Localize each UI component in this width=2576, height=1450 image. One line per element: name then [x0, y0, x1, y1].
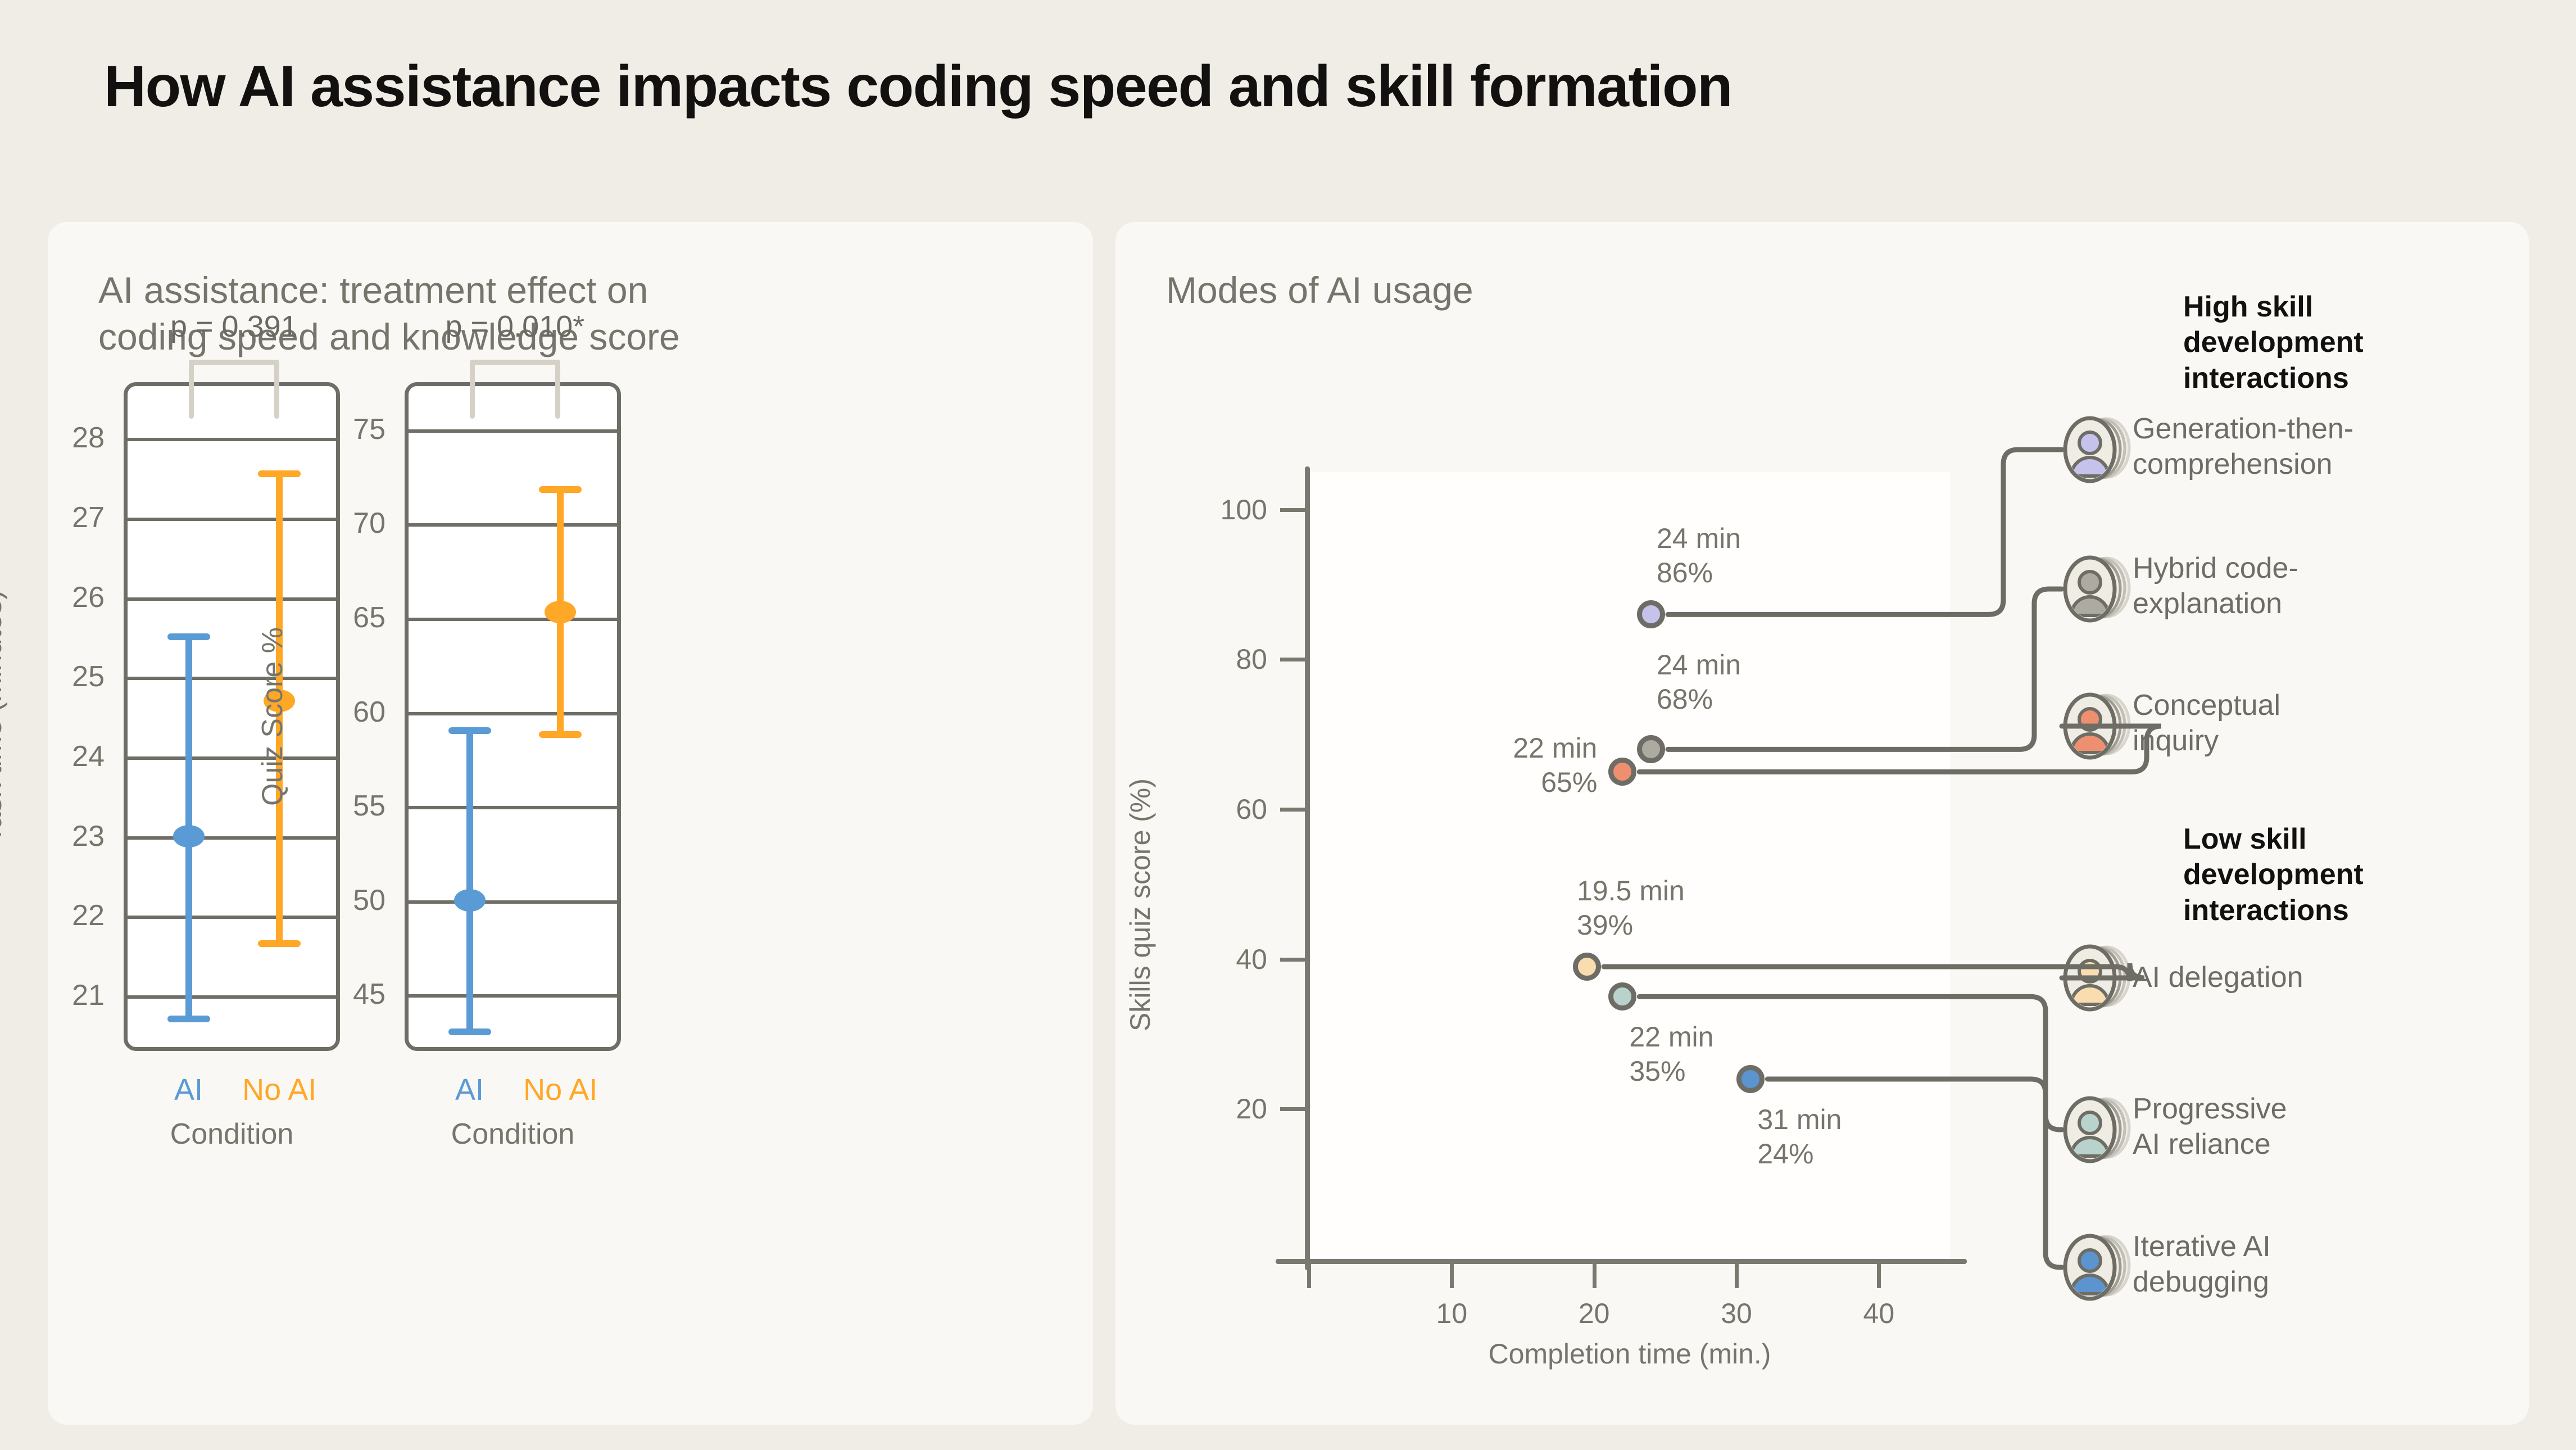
- x-axis-category-ai: AI: [455, 1072, 484, 1107]
- scatter-point-annotation: 24 min 86%: [1657, 522, 1741, 590]
- page-title: How AI assistance impacts coding speed a…: [104, 53, 1732, 120]
- x-axis-category-no-ai: No AI: [242, 1072, 316, 1107]
- legend-item-label: Iterative AI debugging: [2133, 1229, 2271, 1301]
- legend-item-label: AI delegation: [2133, 960, 2303, 995]
- chart-plot-area: [405, 382, 621, 1051]
- scatter-plot-area: [1309, 472, 1950, 1259]
- y-axis-title: Quiz Score %: [256, 627, 289, 806]
- y-axis-tick-label: 25: [48, 660, 105, 694]
- y-axis-tick-label: 23: [48, 819, 105, 853]
- legend-item-hybrid-code-explanation[interactable]: Hybrid code- explanation: [2060, 552, 2487, 626]
- gridline: [409, 806, 617, 809]
- left-panel-card: AI assistance: treatment effect on codin…: [48, 222, 1093, 1425]
- y-axis-title: Skills quiz score (%): [1124, 778, 1157, 1031]
- gridline: [409, 712, 617, 715]
- mean-point: [545, 601, 576, 623]
- y-axis-line: [1305, 466, 1310, 1270]
- gridline: [409, 618, 617, 621]
- y-axis-tick-label: 100: [1163, 493, 1267, 526]
- y-axis-tick-label: 65: [48, 601, 386, 635]
- x-tick-mark: [1450, 1262, 1454, 1288]
- legend-item-label: Progressive AI reliance: [2133, 1091, 2287, 1163]
- gridline: [128, 836, 336, 840]
- y-tick-mark: [1280, 1107, 1306, 1111]
- mean-point: [173, 825, 205, 848]
- y-tick-mark: [1280, 808, 1306, 812]
- y-axis-tick-label: 60: [1163, 793, 1267, 826]
- user-avatar-icon: [2060, 1231, 2133, 1304]
- y-axis-tick-label: 75: [48, 413, 386, 446]
- x-tick-mark: [1593, 1262, 1597, 1288]
- p-value-label: p = 0.010*: [445, 309, 584, 344]
- y-axis-tick-label: 20: [1163, 1093, 1267, 1125]
- scatter-point-annotation: 24 min 68%: [1657, 648, 1741, 717]
- y-axis-tick-label: 70: [48, 506, 386, 540]
- legend-group-title-low: Low skill development interactions: [2183, 822, 2364, 928]
- p-value-bracket: [189, 360, 280, 419]
- bracket-bar: [470, 360, 561, 365]
- gridline: [128, 597, 336, 601]
- scatter-point-annotation: 22 min 65%: [1361, 731, 1597, 800]
- legend-item-ai-delegation[interactable]: AI delegation: [2060, 941, 2487, 1014]
- gridline: [128, 756, 336, 760]
- scatter-point-annotation: 31 min 24%: [1757, 1103, 1842, 1171]
- y-axis-tick-label: 80: [1163, 643, 1267, 676]
- y-axis-tick-label: 40: [1163, 943, 1267, 976]
- y-axis-tick-label: 55: [48, 789, 386, 823]
- infographic-page: How AI assistance impacts coding speed a…: [0, 0, 2576, 1450]
- x-axis-title: Completion time (min.): [1489, 1338, 1771, 1370]
- user-avatar-icon: [2060, 413, 2133, 486]
- legend-item-label: Hybrid code- explanation: [2133, 551, 2298, 622]
- error-bar-cap-lower: [167, 1016, 210, 1022]
- scatter-point-annotation: 19.5 min 39%: [1577, 874, 1685, 942]
- legend-item-label: Generation-then- comprehension: [2133, 411, 2353, 483]
- error-bar-cap-upper: [448, 727, 491, 734]
- error-bar-cap-upper: [539, 486, 582, 493]
- scatter-point-iterative-ai-debugging[interactable]: [1736, 1065, 1765, 1093]
- error-bar-cap-upper: [167, 633, 210, 640]
- gridline: [409, 429, 617, 433]
- y-tick-mark: [1280, 958, 1306, 962]
- scatter-point-ai-delegation[interactable]: [1573, 953, 1601, 981]
- gridline: [409, 900, 617, 904]
- user-avatar-icon: [2060, 941, 2133, 1014]
- gridline: [409, 523, 617, 527]
- x-axis-title: Condition: [451, 1117, 575, 1151]
- x-axis-tick-label: 10: [1436, 1297, 1468, 1330]
- y-axis-tick-label: 45: [48, 977, 386, 1011]
- user-avatar-icon: [2060, 1093, 2133, 1166]
- scatter-point-annotation: 22 min 35%: [1629, 1020, 1713, 1089]
- bracket-leg-left: [189, 360, 194, 419]
- scatter-point-hybrid-code-explanation[interactable]: [1637, 735, 1665, 763]
- p-value-label: p = 0.391: [170, 309, 298, 344]
- legend-item-label: Conceptual inquiry: [2133, 688, 2280, 759]
- mean-point: [454, 889, 486, 912]
- error-bar-cap-lower: [448, 1028, 491, 1035]
- bracket-leg-right: [274, 360, 279, 419]
- x-axis-title: Condition: [170, 1117, 294, 1151]
- user-avatar-icon: [2060, 690, 2133, 763]
- x-tick-mark-origin: [1307, 1262, 1311, 1288]
- bracket-bar: [189, 360, 280, 365]
- x-axis-line: [1276, 1259, 1967, 1264]
- legend-item-conceptual-inquiry[interactable]: Conceptual inquiry: [2060, 690, 2487, 763]
- legend-item-iterative-ai-debugging[interactable]: Iterative AI debugging: [2060, 1231, 2487, 1304]
- x-axis-tick-label: 40: [1863, 1297, 1895, 1330]
- scatter-point-conceptual-inquiry[interactable]: [1608, 758, 1636, 786]
- gridline: [409, 994, 617, 998]
- error-bar-cap-lower: [539, 731, 582, 738]
- y-axis-tick-label: 24: [48, 740, 105, 773]
- y-tick-mark: [1280, 658, 1306, 661]
- x-axis-category-ai: AI: [174, 1072, 203, 1107]
- legend-group-title-high: High skill development interactions: [2183, 289, 2364, 396]
- x-axis-tick-label: 30: [1721, 1297, 1752, 1330]
- error-bar: [466, 731, 473, 1032]
- p-value-bracket: [470, 360, 561, 419]
- y-axis-tick-label: 60: [48, 695, 386, 729]
- x-tick-mark: [1877, 1262, 1881, 1288]
- y-axis-tick-label: 50: [48, 883, 386, 917]
- error-bar-cap-upper: [258, 470, 301, 477]
- bracket-leg-left: [470, 360, 475, 419]
- y-tick-mark: [1280, 508, 1306, 512]
- x-axis-tick-label: 20: [1579, 1297, 1610, 1330]
- y-axis-title: Task time (minutes): [0, 590, 8, 844]
- user-avatar-icon: [2060, 552, 2133, 626]
- legend-item-generation-then-comprehension[interactable]: Generation-then- comprehension: [2060, 413, 2487, 486]
- x-tick-mark: [1735, 1262, 1739, 1288]
- scatter-point-generation-then-comprehension[interactable]: [1637, 600, 1665, 628]
- legend-item-progressive-ai-reliance[interactable]: Progressive AI reliance: [2060, 1093, 2487, 1166]
- bracket-leg-right: [555, 360, 560, 419]
- x-axis-category-no-ai: No AI: [523, 1072, 597, 1107]
- scatter-point-progressive-ai-reliance[interactable]: [1608, 982, 1636, 1011]
- gridline: [128, 677, 336, 680]
- error-bar-cap-lower: [258, 940, 301, 947]
- right-panel-title: Modes of AI usage: [1166, 267, 1473, 314]
